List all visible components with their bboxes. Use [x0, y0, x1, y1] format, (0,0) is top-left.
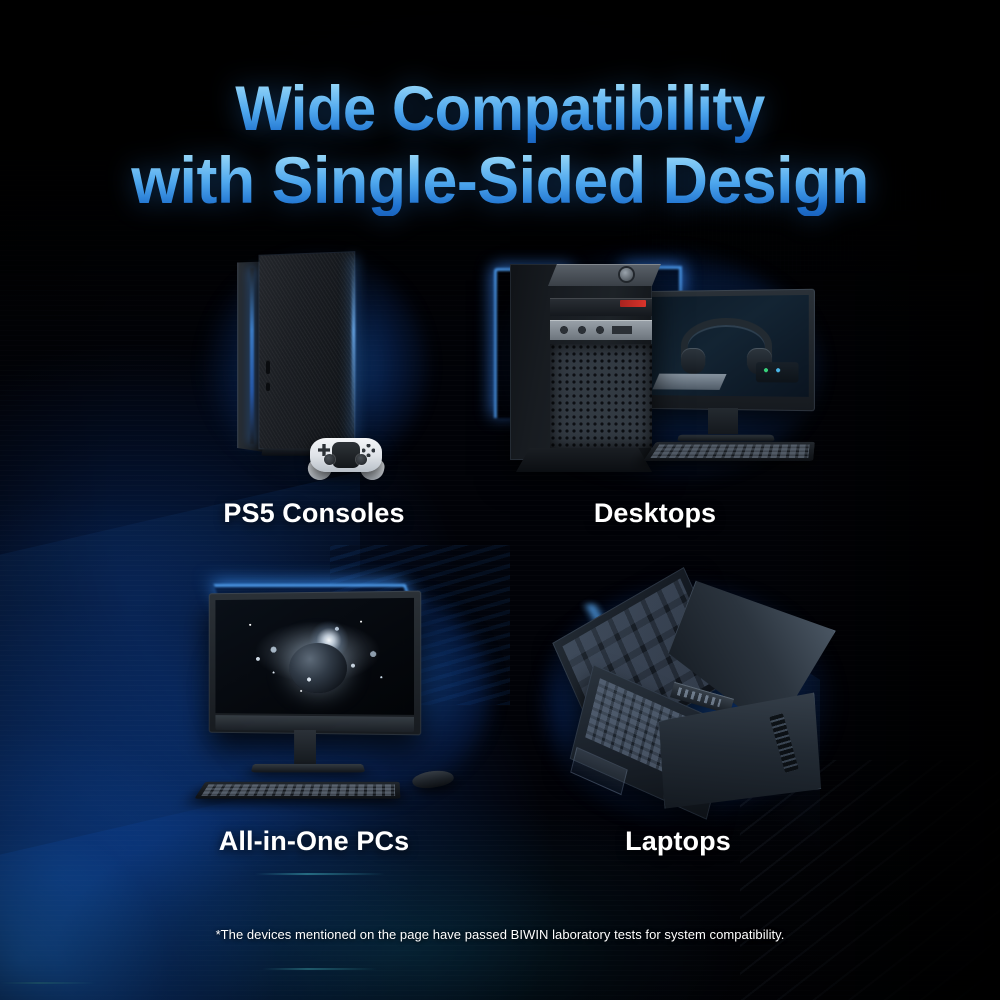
device-label-all-in-one: All-in-One PCs: [194, 826, 434, 857]
desktop-tower-foot: [516, 448, 652, 472]
desktop-monitor-screen: [646, 295, 808, 397]
all-in-one-display: [209, 591, 421, 736]
desktop-tower-icon: [492, 252, 814, 480]
screen-device-graphic: [755, 362, 798, 382]
page-title-line-2: with Single-Sided Design: [25, 145, 975, 216]
desktop-monitor-stand-base: [677, 435, 775, 442]
controller-touchpad: [332, 442, 360, 468]
controller-stick-left: [324, 454, 335, 465]
ps5-body: [259, 252, 354, 452]
device-label-laptops: Laptops: [558, 826, 798, 857]
desktop-keyboard: [643, 442, 814, 461]
device-label-ps5: PS5 Consoles: [194, 498, 434, 529]
wallpaper-debris: [215, 598, 414, 715]
compatibility-poster: Wide Compatibility with Single-Sided Des…: [0, 0, 1000, 1000]
page-title-line-1: Wide Compatibility: [25, 74, 975, 145]
desktop-accent-stripe: [620, 300, 646, 307]
computer-mouse-icon: [410, 768, 458, 791]
dualsense-controller-icon: [300, 428, 392, 480]
ps5-light-strip: [250, 268, 254, 444]
device-card-laptops: [545, 582, 835, 822]
screen-keyboard-graphic: [652, 374, 726, 390]
all-in-one-screen: [215, 598, 414, 715]
disclaimer-footnote: *The devices mentioned on the page have …: [0, 927, 1000, 942]
headphone-earcup-left: [681, 348, 705, 374]
game-console-icon: [196, 232, 432, 482]
device-card-desktop: [492, 252, 814, 480]
all-in-one-stand-neck: [294, 730, 316, 764]
desktop-front-ports: [550, 320, 652, 340]
page-title: Wide Compatibility with Single-Sided Des…: [0, 74, 1000, 216]
device-card-all-in-one: [190, 578, 490, 810]
power-button-icon[interactable]: [620, 268, 633, 281]
ps5-edge-light: [352, 256, 355, 442]
desktop-mesh-panel: [550, 344, 652, 448]
desktop-tower-top-panel: [548, 264, 661, 286]
device-label-desktop: Desktops: [535, 498, 775, 529]
ps5-port-usb: [266, 360, 270, 374]
desktop-monitor: [641, 289, 815, 412]
ps5-port-usbc: [266, 382, 270, 391]
laptop-icon: [545, 582, 835, 822]
device-card-ps5: [196, 232, 432, 482]
all-in-one-pc-icon: [190, 578, 490, 810]
controller-stick-right: [356, 454, 367, 465]
all-in-one-keyboard: [194, 782, 400, 799]
all-in-one-stand-base: [251, 764, 366, 772]
desktop-monitor-stand: [708, 408, 738, 434]
